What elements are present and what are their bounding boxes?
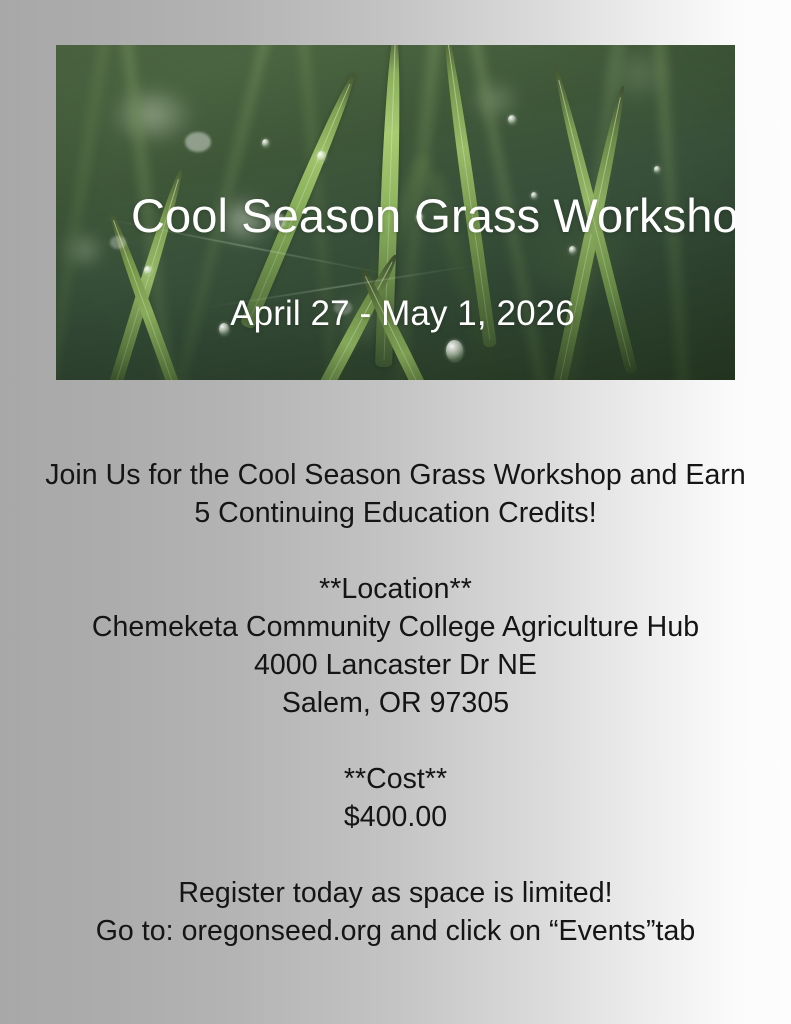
location-street: 4000 Lancaster Dr NE [0, 646, 791, 684]
location-heading: **Location** [0, 570, 791, 608]
location-venue: Chemeketa Community College Agriculture … [0, 608, 791, 646]
location-city-state-zip: Salem, OR 97305 [0, 684, 791, 722]
cost-heading: **Cost** [0, 760, 791, 798]
cost-value: $400.00 [0, 798, 791, 836]
spacer [0, 532, 791, 570]
header-banner: Cool Season Grass Workshop April 27 - Ma… [56, 45, 735, 380]
flyer-body: Join Us for the Cool Season Grass Worksh… [0, 456, 791, 950]
intro-line-1: Join Us for the Cool Season Grass Worksh… [0, 456, 791, 494]
register-instructions: Go to: oregonseed.org and click on “Even… [0, 912, 791, 950]
spacer [0, 722, 791, 760]
page-title: Cool Season Grass Workshop [131, 188, 735, 243]
spacer [0, 836, 791, 874]
intro-line-2: 5 Continuing Education Credits! [0, 494, 791, 532]
register-call-to-action: Register today as space is limited! [0, 874, 791, 912]
event-dates: April 27 - May 1, 2026 [56, 294, 735, 334]
